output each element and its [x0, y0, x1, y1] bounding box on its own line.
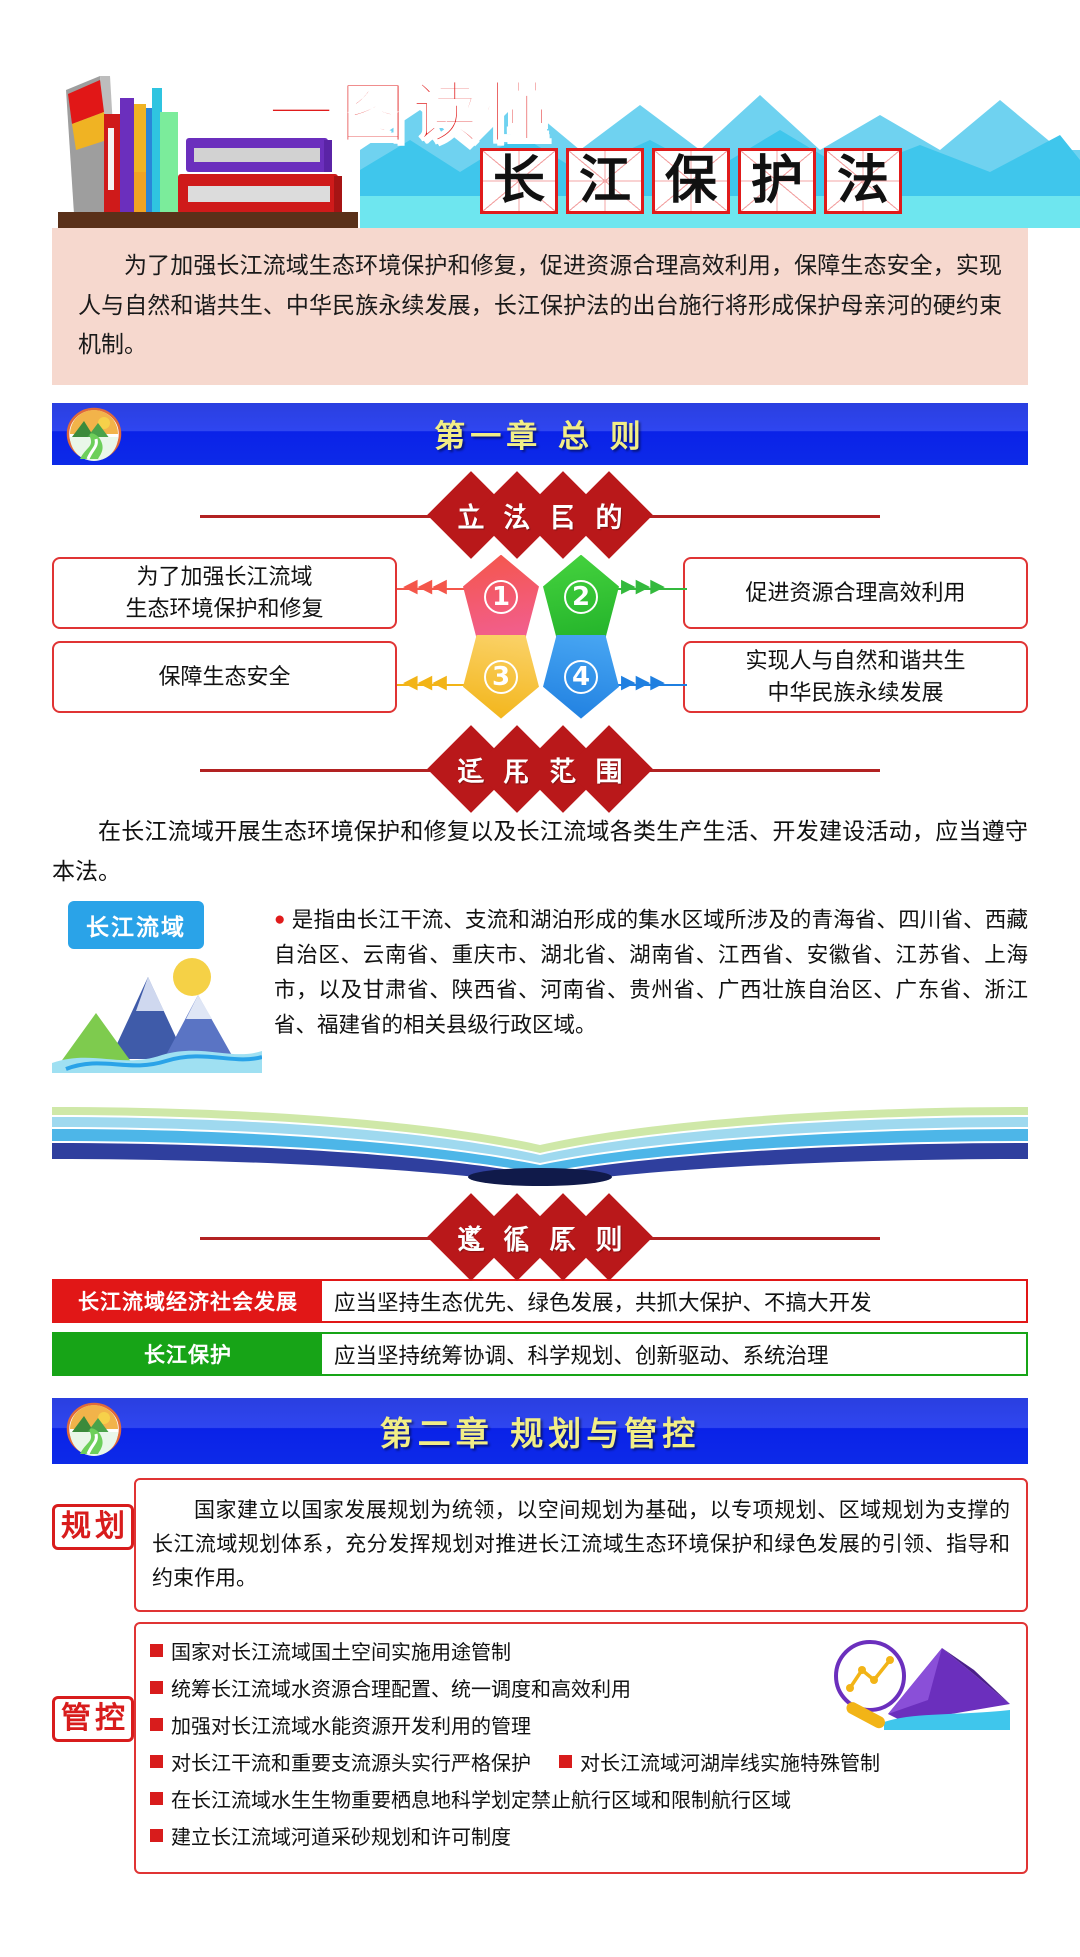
principle-tag-2: 长江保护 — [54, 1334, 322, 1374]
chapter-2-banner: 第二章 规划与管控 — [52, 1398, 1028, 1464]
principle-row-1: 长江流域经济社会发展 应当坚持生态优先、绿色发展，共抓大保护、不搞大开发 — [52, 1279, 1028, 1323]
analytics-chart-icon — [824, 1630, 1014, 1736]
principle-body-1: 应当坚持生态优先、绿色发展，共抓大保护、不搞大开发 — [322, 1281, 1026, 1321]
arrow-left-1: ◀◀◀ — [403, 577, 447, 596]
section-header-principles: 遵 循 原 则 — [0, 1205, 1080, 1269]
principle-row-2: 长江保护 应当坚持统筹协调、科学规划、创新驱动、系统治理 — [52, 1332, 1028, 1376]
planning-badge-char-2: 划 — [95, 1512, 125, 1542]
arrow-left-3: ◀◀◀ — [403, 673, 447, 692]
yangtze-emblem-icon — [66, 407, 122, 461]
purpose-number-cluster: ◀◀◀ ▶▶▶ ◀◀◀ ▶▶▶ 1 2 3 4 — [425, 555, 655, 717]
diamond-char: 的 — [565, 471, 653, 559]
section-header-scope: 适 用 范 围 — [0, 737, 1080, 801]
intro-paragraph: 为了加强长江流域生态环境保护和修复，促进资源合理高效利用，保障生态安全，实现人与… — [52, 228, 1028, 385]
control-list: 国家对长江流域国土空间实施用途管制 统筹长江流域水资源合理配置、统一调度和高效利… — [134, 1622, 1028, 1874]
basin-definition-value: 是指由长江干流、支流和湖泊形成的集水区域所涉及的青海省、四川省、西藏自治区、云南… — [274, 908, 1028, 1036]
scope-paragraph: 在长江流域开展生态环境保护和修复以及长江流域各类生产生活、开发建设活动，应当遵守… — [52, 811, 1028, 892]
purpose-box-3: 保障生态安全 — [52, 641, 397, 713]
principle-tag-1: 长江流域经济社会发展 — [54, 1281, 322, 1321]
planning-text: 国家建立以国家发展规划为统领，以空间规划为基础，以专项规划、区域规划为支撑的长江… — [134, 1478, 1028, 1612]
bullet-square-icon — [559, 1755, 572, 1768]
diamond-group: 立 法 目 的 — [448, 484, 632, 546]
bullet-square-icon — [150, 1718, 163, 1731]
divider-line-right — [620, 769, 880, 772]
section-header-legislative-purpose: 立 法 目 的 — [0, 483, 1080, 547]
bullet-square-icon — [150, 1644, 163, 1657]
chapter-2-title: 第二章 规划与管控 — [380, 1407, 701, 1455]
purpose-badge-1: 1 — [463, 555, 539, 639]
purpose-box-4: 实现人与自然和谐共生 中华民族永续发展 — [683, 641, 1028, 713]
title-char-box: 护 — [738, 148, 816, 214]
control-badge-char-1: 管 — [61, 1704, 91, 1734]
bullet-dot-icon: ● — [274, 909, 286, 930]
mountain-river-illustration — [52, 943, 262, 1073]
purpose-box-2: 促进资源合理高效利用 — [683, 557, 1028, 629]
control-item: 建立长江流域河道采砂规划和许可制度 — [150, 1821, 1012, 1850]
control-badge-char-2: 控 — [95, 1704, 125, 1734]
infographic-page: 一图读懂 长 江 保 护 法 为了加强长江流域生态环境保护和修复，促进资源合理高… — [0, 0, 1080, 1957]
control-badge: 管 控 — [52, 1696, 134, 1742]
planning-badge-char-1: 规 — [61, 1512, 91, 1542]
yangtze-emblem-icon — [66, 1402, 122, 1456]
bullet-square-icon — [150, 1681, 163, 1694]
basin-tag: 长江流域 — [68, 901, 204, 949]
planning-badge: 规 划 — [52, 1504, 134, 1550]
control-item-secondary: 对长江流域河湖岸线实施特殊管制 — [559, 1747, 880, 1776]
principles-list: 长江流域经济社会发展 应当坚持生态优先、绿色发展，共抓大保护、不搞大开发 长江保… — [52, 1279, 1028, 1376]
divider-line-right — [620, 515, 880, 518]
basin-definition-block: 长江流域 ● 是指由长江干流、支流和湖泊形成的集水区域所涉及的青海省、四川省、西… — [52, 901, 1028, 1101]
purpose-box-1: 为了加强长江流域 生态环境保护和修复 — [52, 557, 397, 629]
planning-block: 规 划 国家建立以国家发展规划为统领，以空间规划为基础，以专项规划、区域规划为支… — [52, 1478, 1028, 1612]
open-book-illustration — [52, 1101, 1028, 1187]
title-sub: 长 江 保 护 法 — [480, 148, 902, 214]
control-item: 在长江流域水生生物重要栖息地科学划定禁止航行区域和限制航行区域 — [150, 1784, 1012, 1813]
purpose-badge-4: 4 — [543, 635, 619, 719]
control-item: 对长江干流和重要支流源头实行严格保护 对长江流域河湖岸线实施特殊管制 — [150, 1747, 1012, 1776]
title-char-box: 江 — [566, 148, 644, 214]
bullet-square-icon — [150, 1829, 163, 1842]
chapter-1-banner: 第一章 总 则 — [52, 403, 1028, 465]
page-title: 一图读懂 — [268, 60, 556, 156]
control-block: 管 控 国家对长江流域国土空间实施用途管制 — [52, 1622, 1028, 1874]
title-char-box: 法 — [824, 148, 902, 214]
diamond-char: 围 — [565, 725, 653, 813]
divider-line-left — [200, 1237, 460, 1240]
chapter-1-title: 第一章 总 则 — [434, 411, 646, 456]
basin-definition-text: ● 是指由长江干流、支流和湖泊形成的集水区域所涉及的青海省、四川省、西藏自治区、… — [274, 903, 1028, 1042]
arrow-right-4: ▶▶▶ — [621, 673, 665, 692]
arrow-right-2: ▶▶▶ — [621, 577, 665, 596]
title-char-box: 长 — [480, 148, 558, 214]
purpose-badge-2: 2 — [543, 555, 619, 639]
bullet-square-icon — [150, 1792, 163, 1805]
divider-line-right — [620, 1237, 880, 1240]
divider-line-left — [200, 515, 460, 518]
bullet-square-icon — [150, 1755, 163, 1768]
purpose-badge-3: 3 — [463, 635, 539, 719]
diamond-group: 适 用 范 围 — [448, 738, 632, 800]
title-char-box: 保 — [652, 148, 730, 214]
diamond-char: 则 — [565, 1193, 653, 1281]
principle-body-2: 应当坚持统筹协调、科学规划、创新驱动、系统治理 — [322, 1334, 1026, 1374]
divider-line-left — [200, 769, 460, 772]
diamond-group: 遵 循 原 则 — [448, 1206, 632, 1268]
legislative-purpose-grid: 为了加强长江流域 生态环境保护和修复 促进资源合理高效利用 保障生态安全 实现人… — [52, 557, 1028, 719]
header: 一图读懂 长 江 保 护 法 — [0, 0, 1080, 228]
